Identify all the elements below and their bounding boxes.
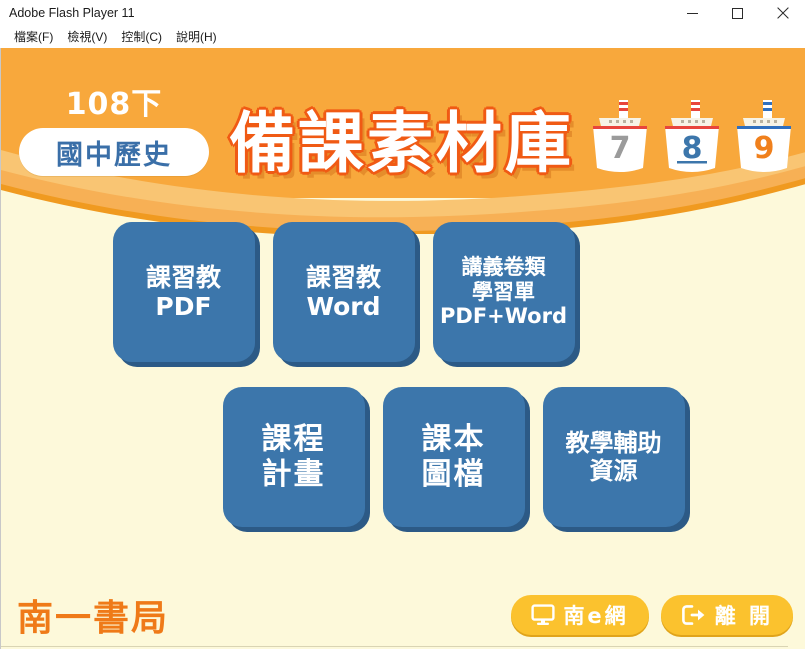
menu-item-control[interactable]: 控制(C) [114,26,169,48]
flash-stage: 108下 國中歷史 備課素材庫 7 [0,48,805,649]
grade-icons: 7 8 [589,96,795,176]
window-title: Adobe Flash Player 11 [0,6,135,20]
tile-row-1: 課習教 PDF 課習教 Word 講義卷類 學習單 PDF+Word [0,222,805,362]
exit-label: 離 開 [715,600,773,630]
tile-label: 課習教 PDF [142,263,225,322]
tile-label: 課習教 Word [302,263,385,322]
grade-icon-7[interactable]: 7 [589,96,651,176]
tile-grid: 課習教 PDF 課習教 Word 講義卷類 學習單 PDF+Word 課程 計畫… [1,198,805,527]
menu-item-file[interactable]: 檔案(F) [7,26,60,48]
exit-icon [681,604,707,626]
monitor-icon [531,604,555,626]
close-button[interactable] [760,0,805,26]
tile-handouts-worksheets[interactable]: 講義卷類 學習單 PDF+Word [433,222,575,362]
subject-badge: 108下 國中歷史 [19,88,209,176]
page-title: 備課素材庫 [229,106,574,182]
nan-e-net-button[interactable]: 南e網 [511,595,648,635]
maximize-button[interactable] [715,0,760,26]
menu-item-help[interactable]: 說明(H) [169,26,224,48]
footer-actions: 南e網 離 開 [511,595,793,635]
subject-pill: 國中歷史 [19,128,209,176]
tile-label: 講義卷類 學習單 PDF+Word [436,255,571,329]
tile-teaching-resources[interactable]: 教學輔助 資源 [543,387,685,527]
grade-number-8: 8 [682,131,703,166]
tile-textbook-images[interactable]: 課本 圖檔 [383,387,525,527]
subject-label: 國中歷史 [56,133,172,172]
exit-button[interactable]: 離 開 [661,595,793,635]
tile-course-plan[interactable]: 課程 計畫 [223,387,365,527]
menu-item-view[interactable]: 檢視(V) [60,26,114,48]
status-divider [1,646,788,647]
maximize-icon [732,8,743,19]
tile-teaching-pdf[interactable]: 課習教 PDF [113,222,255,362]
tile-row-2: 課程 計畫 課本 圖檔 教學輔助 資源 [101,387,805,527]
tile-label: 課本 圖檔 [418,422,490,493]
minimize-icon [687,8,698,19]
nan-e-net-label: 南e網 [563,600,628,630]
close-icon [777,7,789,19]
minimize-button[interactable] [670,0,715,26]
flash-player-window: Adobe Flash Player 11 檔案(F) 檢視(V) 控制(C) [0,0,805,649]
grade-number-7: 7 [610,131,631,166]
titlebar: Adobe Flash Player 11 [0,0,805,26]
term-label: 108下 [19,88,209,122]
grade-icon-9[interactable]: 9 [733,96,795,176]
grade-icon-8[interactable]: 8 [661,96,723,176]
tile-teaching-word[interactable]: 課習教 Word [273,222,415,362]
tile-label: 教學輔助 資源 [562,429,666,486]
window-controls [670,0,805,26]
grade-number-9: 9 [754,131,775,166]
publisher-brand: 南一書局 [17,597,169,639]
tile-label: 課程 計畫 [258,422,330,493]
menubar: 檔案(F) 檢視(V) 控制(C) 說明(H) [0,26,805,48]
